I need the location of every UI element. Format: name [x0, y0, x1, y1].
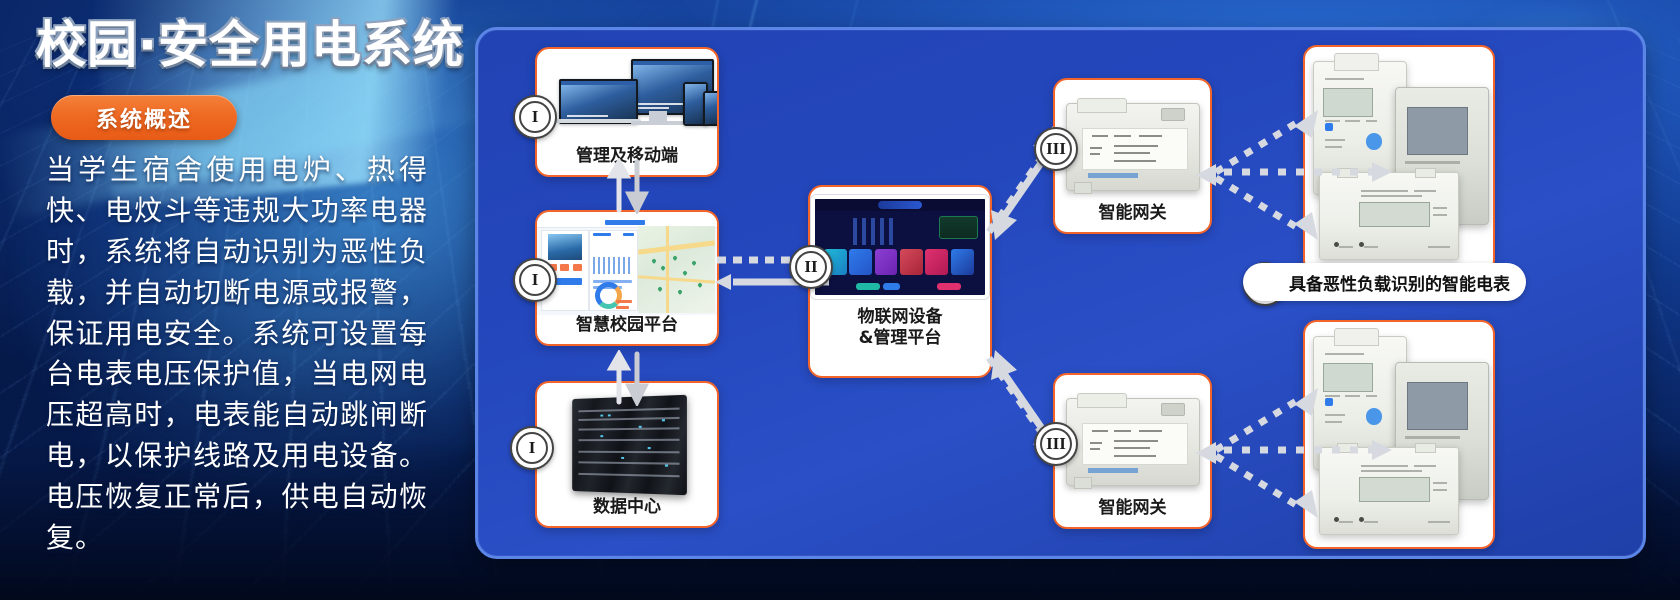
arrow-management-campus	[603, 158, 653, 214]
section-badge: 系统概述	[51, 95, 237, 140]
badge-numeral-iot: II	[789, 245, 833, 289]
diagram-panel: 管理及移动端 I	[475, 27, 1646, 559]
arrow-campus-datacenter	[603, 350, 653, 406]
node-campus-platform[interactable]: 智慧校园平台	[535, 210, 719, 346]
badge-numeral-gateway-top: III	[1034, 127, 1078, 171]
badge-numeral-management: I	[513, 95, 557, 139]
poster-root: 校园·安全用电系统 系统概述 当学生宿舍使用电炉、热得快、电炆斗等违规大功率电器…	[0, 0, 1680, 600]
arrow-gateway-bottom-meters	[1194, 360, 1394, 540]
badge-numeral-datacenter: I	[510, 426, 554, 470]
section-badge-label: 系统概述	[96, 102, 192, 134]
node-iot-caption-line2: &管理平台	[859, 328, 942, 349]
server-rack-icon	[537, 393, 717, 497]
arrow-gateway-top-meters	[1194, 82, 1394, 262]
node-gateway-top-caption: 智能网关	[1099, 203, 1167, 224]
intro-column: 校园·安全用电系统 系统概述 当学生宿舍使用电炉、热得快、电炆斗等违规大功率电器…	[0, 0, 470, 600]
iot-dashboard-icon	[810, 195, 990, 299]
node-iot-caption-line1: 物联网设备	[858, 307, 943, 328]
badge-numeral-gateway-bottom: III	[1034, 422, 1078, 466]
overview-paragraph: 当学生宿舍使用电炉、热得快、电炆斗等违规大功率电器时，系统将自动识别为恶性负载，…	[46, 150, 428, 559]
multi-device-icon	[537, 55, 717, 146]
node-datacenter-caption: 数据中心	[593, 497, 661, 518]
device-phone	[703, 91, 719, 126]
page-title: 校园·安全用电系统	[36, 18, 456, 72]
node-campus-caption: 智慧校园平台	[576, 315, 678, 336]
laptop-base	[551, 119, 641, 124]
badge-numeral-campus: I	[513, 258, 557, 302]
meter-label-pill[interactable]: 具备恶性负载识别的智能电表	[1243, 263, 1526, 301]
device-laptop	[559, 79, 639, 125]
dashboard-map-icon	[537, 218, 717, 315]
meter-label-text: 具备恶性负载识别的智能电表	[1289, 270, 1510, 295]
node-gateway-bottom-caption: 智能网关	[1099, 498, 1167, 519]
node-iot-platform[interactable]: 物联网设备 &管理平台	[808, 185, 992, 378]
monitor-foot	[631, 121, 685, 125]
